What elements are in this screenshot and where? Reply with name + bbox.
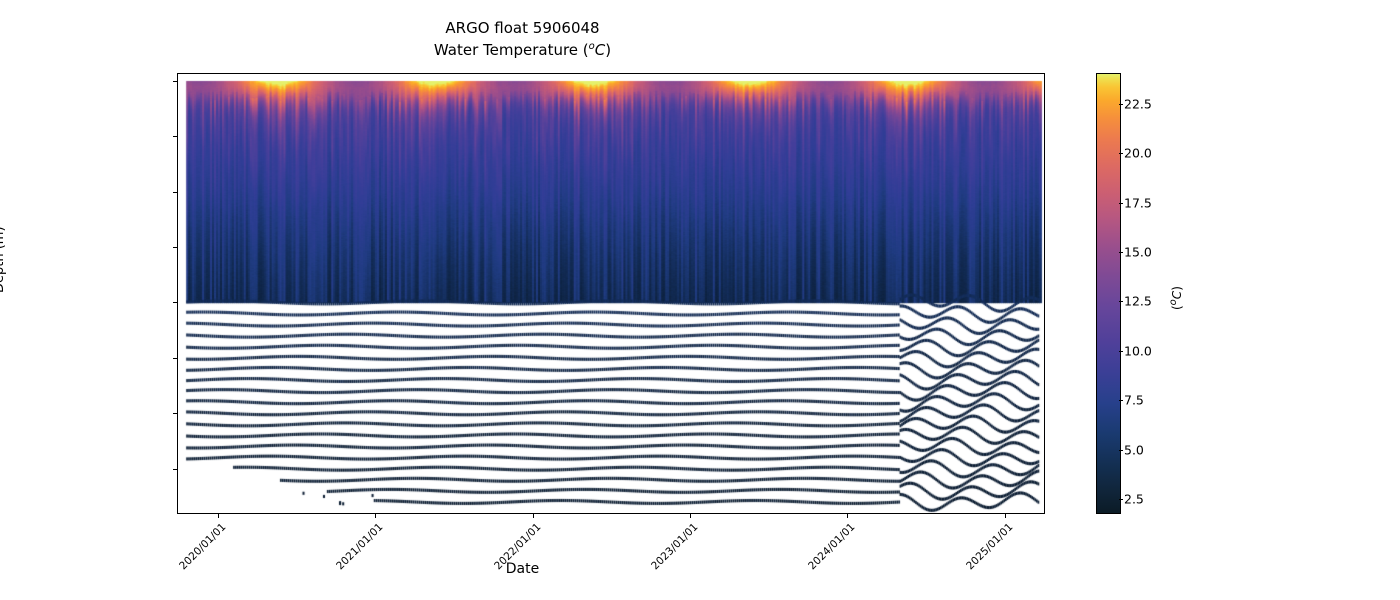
argo-temperature-figure: ARGO float 5906048 Water Temperature (oC… [0,0,1400,600]
colorbar-tick-label: 2.5 [1124,492,1144,507]
colorbar-unit: C [1170,291,1184,299]
x-tick-mark [1005,514,1006,518]
colorbar-tick-mark [1119,203,1123,204]
y-axis-label: Depth (m) [0,226,7,293]
temperature-heatmap [178,74,1044,513]
colorbar-label: (oC) [1168,286,1184,310]
title-line-variable: Water Temperature (oC) [0,40,1045,62]
colorbar-tick-label: 22.5 [1124,96,1152,111]
title-line-float: ARGO float 5906048 [0,18,1045,40]
colorbar-paren-close: ) [1170,286,1184,291]
colorbar-tick-label: 17.5 [1124,195,1152,210]
colorbar-tick-mark [1119,252,1123,253]
title-paren-close: ) [605,41,611,59]
colorbar-paren-open: ( [1170,305,1184,310]
colorbar-degree-sup: o [1168,299,1179,305]
x-tick-mark [375,514,376,518]
x-tick-mark [218,514,219,518]
colorbar-tick-mark [1119,104,1123,105]
title-unit: C [595,41,605,59]
colorbar-tick-mark [1119,153,1123,154]
colorbar-gradient [1097,74,1120,513]
colorbar-tick-mark [1119,499,1123,500]
colorbar-tick-mark [1119,450,1123,451]
figure-title: ARGO float 5906048 Water Temperature (oC… [0,18,1045,62]
x-tick-mark [690,514,691,518]
colorbar-tick-label: 20.0 [1124,146,1152,161]
colorbar-gradient-frame [1096,73,1121,514]
x-tick-mark [533,514,534,518]
colorbar-tick-mark [1119,301,1123,302]
x-tick-mark [847,514,848,518]
colorbar-tick-label: 15.0 [1124,244,1152,259]
colorbar-tick-label: 5.0 [1124,442,1144,457]
colorbar-tick-label: 10.0 [1124,343,1152,358]
x-axis-label: Date [0,561,1045,577]
title-variable-text: Water Temperature ( [434,41,589,59]
colorbar-tick-mark [1119,400,1123,401]
colorbar-tick-label: 12.5 [1124,294,1152,309]
colorbar-tick-mark [1119,351,1123,352]
plot-clip [178,74,1044,513]
plot-area [177,73,1045,514]
colorbar-tick-label: 7.5 [1124,393,1144,408]
